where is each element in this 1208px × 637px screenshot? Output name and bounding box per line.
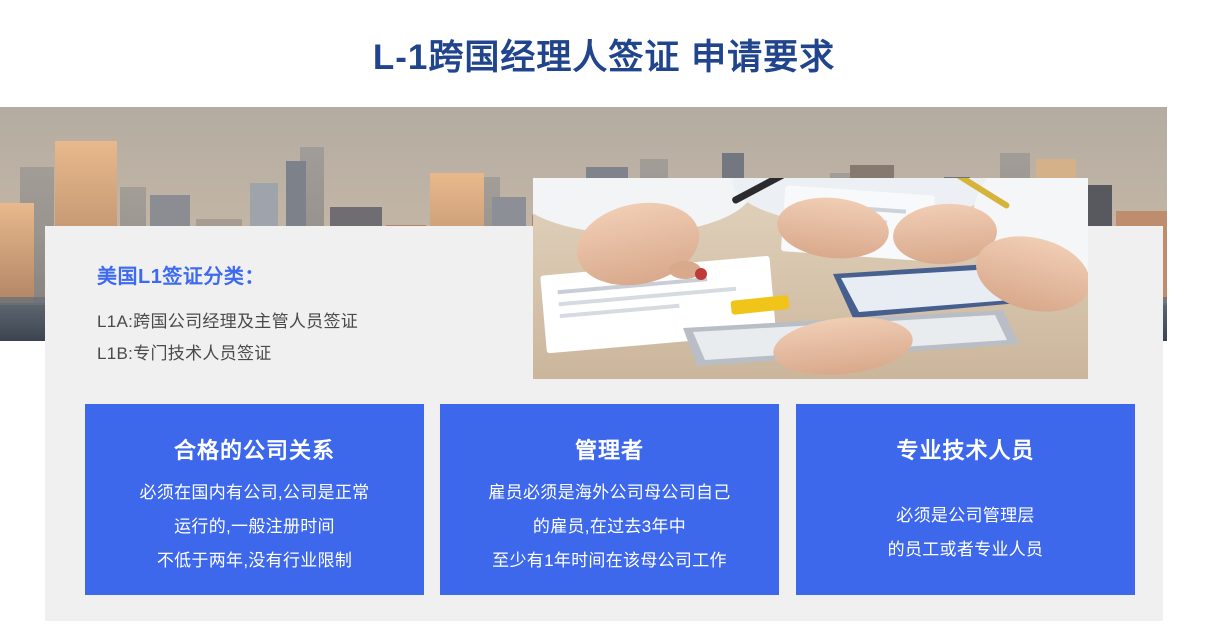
- card-body-line: 必须在国内有公司,公司是正常: [85, 476, 424, 510]
- card-body-line: 的雇员,在过去3年中: [440, 510, 779, 544]
- card-body-line: 至少有1年时间在该母公司工作: [440, 544, 779, 578]
- infographic-page: L-1跨国经理人签证 申请要求: [0, 0, 1208, 637]
- card-title: 合格的公司关系: [174, 437, 335, 465]
- card-title: 专业技术人员: [896, 437, 1034, 465]
- card-body: 必须在国内有公司,公司是正常 运行的,一般注册时间 不低于两年,没有行业限制: [85, 476, 424, 578]
- requirement-card-manager[interactable]: 管理者 雇员必须是海外公司母公司自己 的雇员,在过去3年中 至少有1年时间在该母…: [440, 404, 779, 595]
- requirement-cards: 合格的公司关系 必须在国内有公司,公司是正常 运行的,一般注册时间 不低于两年,…: [0, 0, 1208, 637]
- requirement-card-company-relationship[interactable]: 合格的公司关系 必须在国内有公司,公司是正常 运行的,一般注册时间 不低于两年,…: [85, 404, 424, 595]
- requirement-card-specialized-knowledge[interactable]: 专业技术人员 必须是公司管理层 的员工或者专业人员: [796, 404, 1135, 595]
- card-body-line: 不低于两年,没有行业限制: [85, 544, 424, 578]
- card-title: 管理者: [575, 437, 644, 465]
- card-body-line: 必须是公司管理层: [796, 499, 1135, 533]
- card-body-line: 雇员必须是海外公司母公司自己: [440, 476, 779, 510]
- card-body-line: 运行的,一般注册时间: [85, 510, 424, 544]
- card-body-line: 的员工或者专业人员: [796, 533, 1135, 567]
- card-body: 必须是公司管理层 的员工或者专业人员: [796, 499, 1135, 567]
- card-body: 雇员必须是海外公司母公司自己 的雇员,在过去3年中 至少有1年时间在该母公司工作: [440, 476, 779, 578]
